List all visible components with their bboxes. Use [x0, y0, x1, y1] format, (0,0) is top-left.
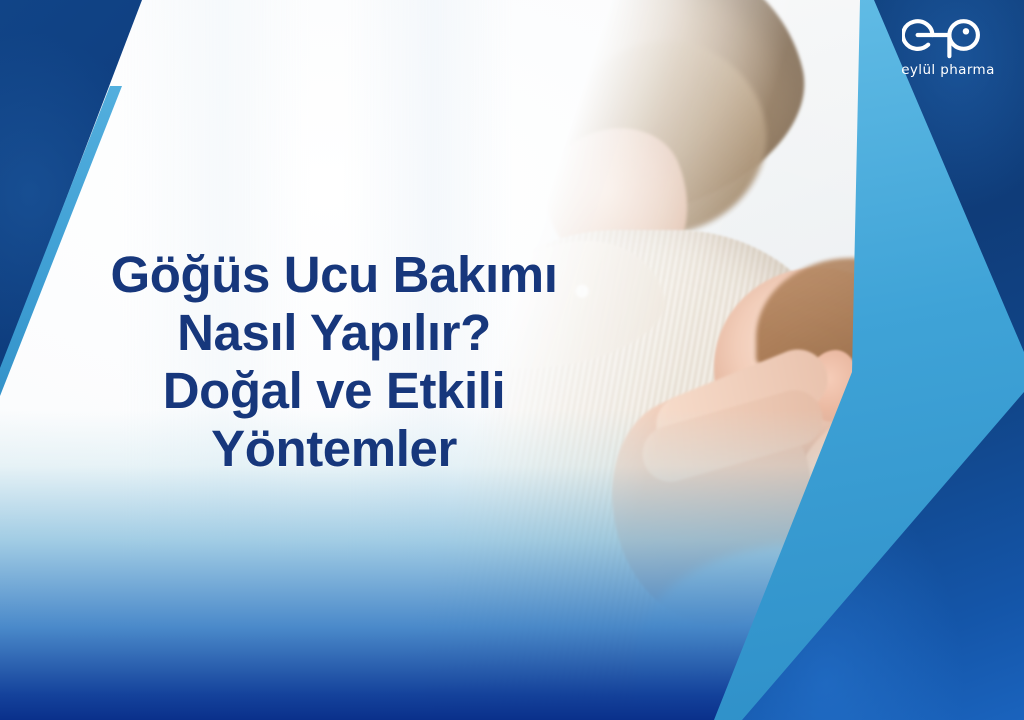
page-title-line-2: Nasıl Yapılır? — [46, 304, 622, 362]
article-hero-banner: eylül pharma Göğüs Ucu Bakımı Nasıl Yapı… — [0, 0, 1024, 720]
page-title-line-4: Yöntemler — [46, 420, 622, 478]
ep-monogram-icon — [902, 10, 994, 60]
page-title-line-1: Göğüs Ucu Bakımı — [46, 246, 622, 304]
page-title-line-3: Doğal ve Etkili — [46, 362, 622, 420]
page-title: Göğüs Ucu Bakımı Nasıl Yapılır? Doğal ve… — [46, 246, 622, 478]
brand-wordmark: eylül pharma — [901, 62, 995, 78]
brand-logo[interactable]: eylül pharma — [888, 10, 1008, 88]
